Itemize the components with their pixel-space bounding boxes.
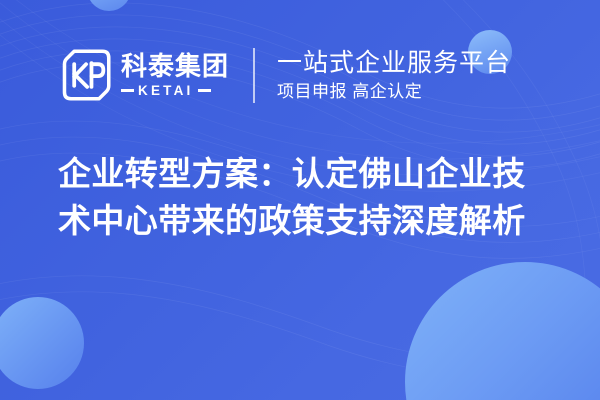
brand-text-block: 科泰集团 KETAI (121, 52, 229, 99)
header-divider (253, 48, 255, 103)
decorative-circle-top-left (87, 0, 131, 11)
brand-name-cn: 科泰集团 (121, 52, 229, 81)
brand-name-en-row: KETAI (121, 83, 229, 99)
decorative-circle-bottom-right (405, 262, 600, 400)
brand-dash-right-icon (198, 89, 211, 92)
brand-name-en: KETAI (138, 83, 194, 99)
tagline-sub: 项目申报 高企认定 (277, 80, 511, 103)
page-title: 企业转型方案：认定佛山企业技术中心带来的政策支持深度解析 (58, 150, 553, 244)
brand-dash-left-icon (121, 89, 134, 92)
tagline-block: 一站式企业服务平台 项目申报 高企认定 (277, 48, 511, 103)
ketai-logo-icon (58, 48, 112, 102)
banner-header: 科泰集团 KETAI 一站式企业服务平台 项目申报 高企认定 (0, 40, 600, 110)
tagline-main: 一站式企业服务平台 (277, 48, 511, 79)
decorative-circle-bottom-left (0, 297, 84, 389)
promo-banner: 科泰集团 KETAI 一站式企业服务平台 项目申报 高企认定 企业转型方案：认定… (0, 0, 600, 400)
brand-lockup: 科泰集团 KETAI (58, 48, 229, 102)
